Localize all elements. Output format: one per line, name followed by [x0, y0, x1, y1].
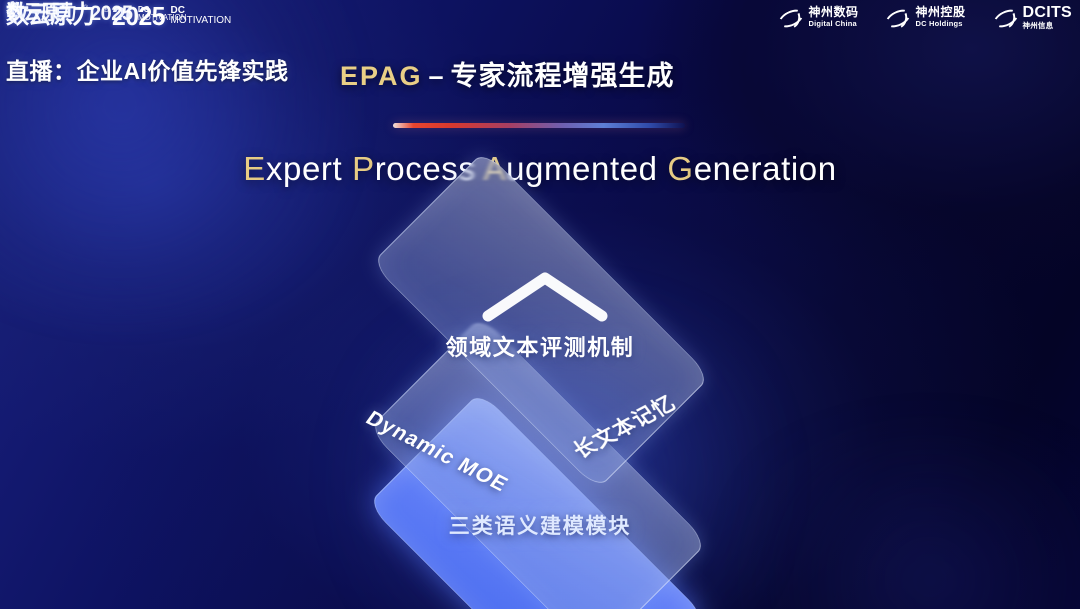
footer-dc-line2: MOTIVATION — [138, 14, 187, 22]
footer-brand-year: 2025 — [90, 3, 132, 24]
presentation-slide: 数云原力 ® 2025 DC MOTIVATION 直播：企业AI价值先锋实践 … — [0, 0, 1080, 609]
footer-brand-dc: DC MOTIVATION — [138, 6, 187, 22]
footer-brand-cn: 数云原力 — [6, 3, 76, 23]
footer-registered-mark: ® — [83, 5, 88, 12]
footer-brand-watermark: 数云原力 ® 2025 DC MOTIVATION — [6, 3, 1070, 604]
